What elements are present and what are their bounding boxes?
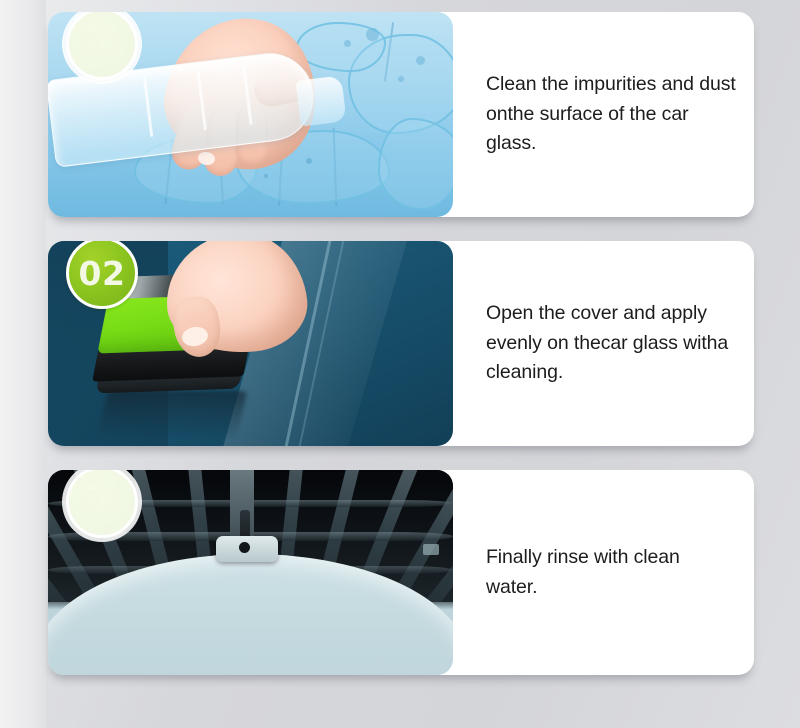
step-card-3: 03 Finally rinse with clean water. (48, 470, 754, 675)
step-number-3: 03 (79, 486, 126, 519)
step-3-photo: 03 (48, 470, 453, 675)
step-number-1: 01 (79, 28, 126, 61)
step-card-2: 02 Open the cover and apply evenly on th… (48, 241, 754, 446)
step-1-text-panel: Clean the impurities and dust onthe surf… (453, 12, 754, 217)
step-2-photo: 02 (48, 241, 453, 446)
step-number-2: 02 (79, 257, 126, 290)
step-1-photo: 01 (48, 12, 453, 217)
steps-list: 01 Clean the impurities and dust onthe s… (48, 12, 754, 699)
step-badge-3: 03 (66, 470, 138, 538)
step-3-text-panel: Finally rinse with clean water. (453, 470, 754, 675)
step-2-text-panel: Open the cover and apply evenly on theca… (453, 241, 754, 446)
step-badge-1: 01 (66, 12, 138, 80)
page-background: 01 Clean the impurities and dust onthe s… (0, 0, 800, 728)
step-2-description: Open the cover and apply evenly on theca… (486, 299, 736, 388)
step-1-description: Clean the impurities and dust onthe surf… (486, 70, 736, 159)
step-3-description: Finally rinse with clean water. (486, 543, 736, 602)
step-card-1: 01 Clean the impurities and dust onthe s… (48, 12, 754, 217)
